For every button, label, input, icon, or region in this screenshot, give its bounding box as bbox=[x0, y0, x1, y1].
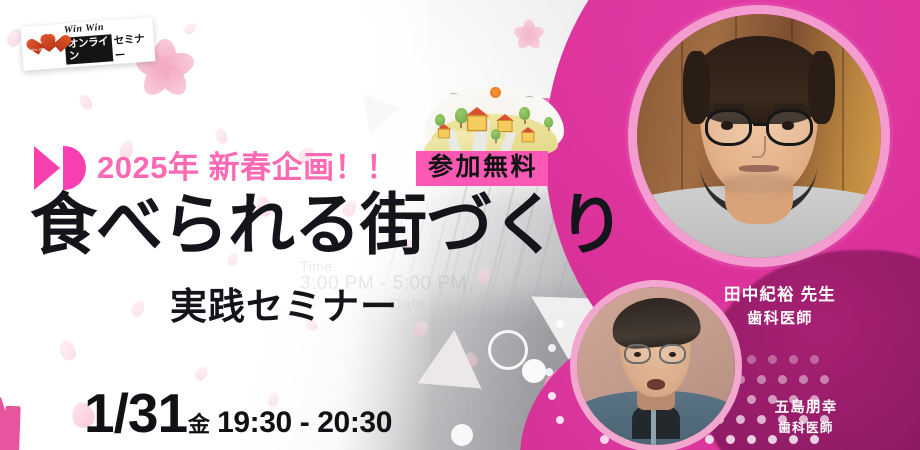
schedule-row: 1/31 金 19:30 - 20:30 bbox=[84, 386, 392, 441]
heart-icon-group: Win Win bbox=[28, 31, 64, 63]
edge-dot-c bbox=[545, 368, 553, 376]
logo-online-box: オンライン bbox=[65, 35, 114, 64]
edge-dot-a bbox=[556, 320, 564, 328]
town-illustration bbox=[424, 86, 564, 160]
edge-dot-b bbox=[548, 344, 556, 352]
speaker-photo-secondary-image bbox=[577, 287, 735, 445]
seminar-main-title: 食べられる街づくり bbox=[30, 192, 624, 260]
white-ring-decoration-mid bbox=[488, 330, 528, 370]
free-admission-badge: 参加無料 bbox=[416, 151, 548, 186]
speaker-caption-primary: 田中紀裕 先生 歯科医師 bbox=[724, 284, 836, 330]
event-day-of-week: 金 bbox=[188, 407, 210, 439]
event-date: 1/31 bbox=[84, 386, 187, 441]
speaker-role-primary: 歯科医師 bbox=[724, 308, 836, 330]
edge-dot-e bbox=[556, 416, 564, 424]
seminar-sub-title: 実践セミナー bbox=[170, 276, 398, 330]
speaker-role-secondary: 歯科医師 bbox=[775, 419, 838, 437]
campaign-year-line: 2025年 新春企画！！ bbox=[97, 147, 398, 189]
edge-dot-d bbox=[548, 392, 556, 400]
speaker-name-secondary: 五島朋幸 bbox=[775, 398, 838, 419]
event-time-range: 19:30 - 20:30 bbox=[217, 406, 392, 440]
speaker-photo-primary-image bbox=[637, 14, 881, 258]
speaker-name-primary: 田中紀裕 先生 bbox=[724, 284, 836, 308]
poster-canvas: Date Time: 3:00 PM - 5:00 PM bbox=[0, 0, 920, 450]
logo-seminar-text: セミナー bbox=[113, 30, 148, 62]
speaker-caption-secondary: 五島朋幸 歯科医師 bbox=[775, 398, 838, 437]
white-dot-decoration-b bbox=[451, 424, 473, 446]
speaker-photo-primary bbox=[628, 5, 890, 267]
play-triangle-icon bbox=[34, 146, 90, 190]
white-dot-decoration-a bbox=[522, 359, 546, 383]
speaker-photo-secondary bbox=[570, 280, 742, 450]
heart-icon-right bbox=[39, 34, 61, 56]
sakura-flower-small bbox=[514, 20, 544, 50]
